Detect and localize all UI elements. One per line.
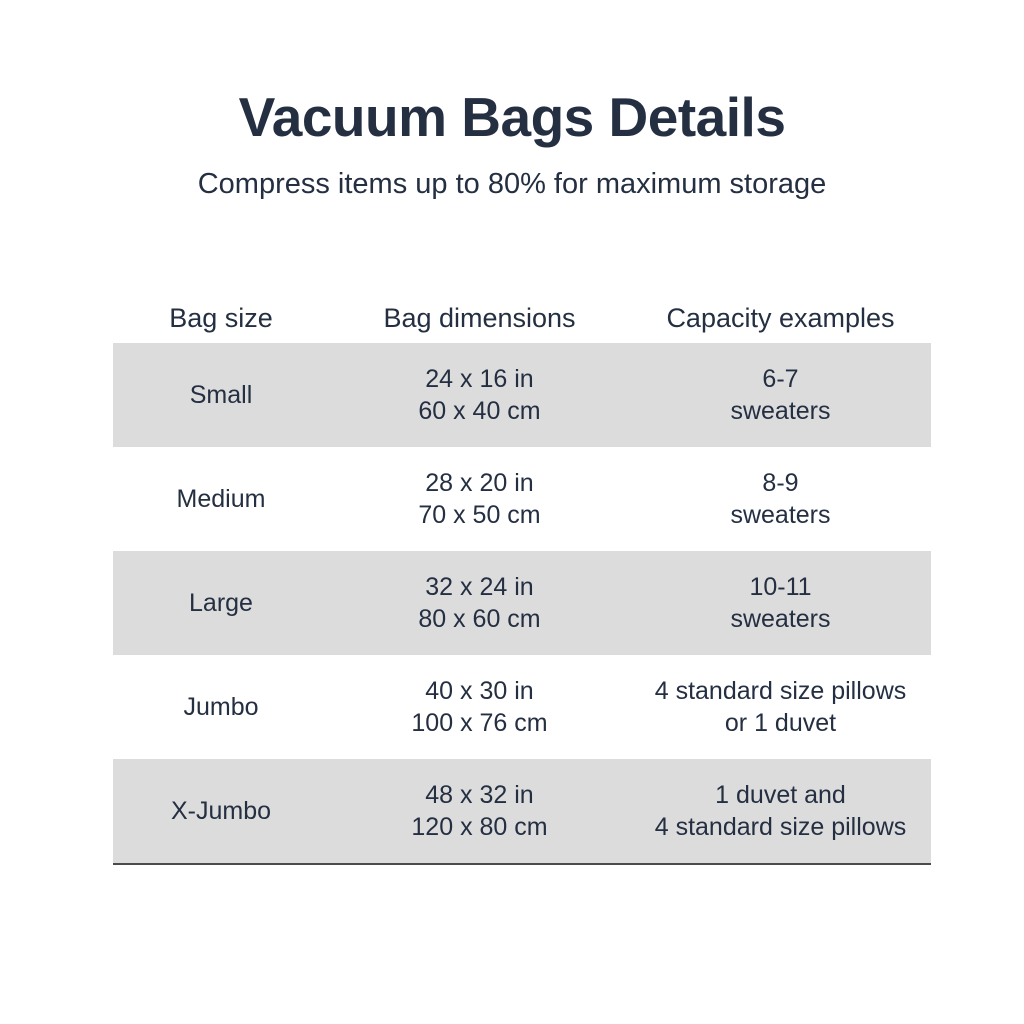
capacity-line-2: 4 standard size pillows (630, 811, 931, 843)
cell-bag-size: Large (113, 587, 329, 619)
page-title: Vacuum Bags Details (0, 86, 1024, 148)
bag-size-table: Bag size Bag dimensions Capacity example… (113, 292, 931, 865)
table-bottom-border (113, 863, 931, 865)
dimensions-centimeters: 120 x 80 cm (329, 811, 630, 843)
capacity-line-2: sweaters (630, 499, 931, 531)
dimensions-centimeters: 60 x 40 cm (329, 395, 630, 427)
capacity-line-1: 1 duvet and (630, 779, 931, 811)
dimensions-inches: 40 x 30 in (329, 675, 630, 707)
capacity-line-1: 8-9 (630, 467, 931, 499)
cell-bag-dimensions: 40 x 30 in 100 x 76 cm (329, 675, 630, 739)
dimensions-inches: 48 x 32 in (329, 779, 630, 811)
infographic-page: Vacuum Bags Details Compress items up to… (0, 0, 1024, 1024)
table-row: Large 32 x 24 in 80 x 60 cm 10-11 sweate… (113, 551, 931, 655)
page-subtitle: Compress items up to 80% for maximum sto… (0, 166, 1024, 202)
cell-bag-size: Small (113, 379, 329, 411)
column-header-capacity-examples: Capacity examples (630, 302, 931, 334)
cell-bag-size: Medium (113, 483, 329, 515)
table-row: Jumbo 40 x 30 in 100 x 76 cm 4 standard … (113, 655, 931, 759)
table-row: Small 24 x 16 in 60 x 40 cm 6-7 sweaters (113, 343, 931, 447)
table-row: X-Jumbo 48 x 32 in 120 x 80 cm 1 duvet a… (113, 759, 931, 863)
capacity-line-2: sweaters (630, 395, 931, 427)
cell-capacity-examples: 10-11 sweaters (630, 571, 931, 635)
capacity-line-1: 10-11 (630, 571, 931, 603)
cell-bag-dimensions: 28 x 20 in 70 x 50 cm (329, 467, 630, 531)
cell-bag-size: X-Jumbo (113, 795, 329, 827)
cell-bag-dimensions: 48 x 32 in 120 x 80 cm (329, 779, 630, 843)
cell-capacity-examples: 4 standard size pillows or 1 duvet (630, 675, 931, 739)
cell-capacity-examples: 6-7 sweaters (630, 363, 931, 427)
dimensions-inches: 24 x 16 in (329, 363, 630, 395)
dimensions-centimeters: 80 x 60 cm (329, 603, 630, 635)
dimensions-centimeters: 100 x 76 cm (329, 707, 630, 739)
dimensions-inches: 28 x 20 in (329, 467, 630, 499)
column-header-bag-size: Bag size (113, 302, 329, 334)
cell-bag-dimensions: 32 x 24 in 80 x 60 cm (329, 571, 630, 635)
column-header-bag-dimensions: Bag dimensions (329, 302, 630, 334)
cell-bag-size: Jumbo (113, 691, 329, 723)
page-header: Vacuum Bags Details Compress items up to… (0, 86, 1024, 202)
capacity-line-1: 6-7 (630, 363, 931, 395)
dimensions-inches: 32 x 24 in (329, 571, 630, 603)
capacity-line-1: 4 standard size pillows (630, 675, 931, 707)
table-row: Medium 28 x 20 in 70 x 50 cm 8-9 sweater… (113, 447, 931, 551)
dimensions-centimeters: 70 x 50 cm (329, 499, 630, 531)
capacity-line-2: or 1 duvet (630, 707, 931, 739)
cell-capacity-examples: 8-9 sweaters (630, 467, 931, 531)
capacity-line-2: sweaters (630, 603, 931, 635)
cell-capacity-examples: 1 duvet and 4 standard size pillows (630, 779, 931, 843)
table-header-row: Bag size Bag dimensions Capacity example… (113, 292, 931, 343)
cell-bag-dimensions: 24 x 16 in 60 x 40 cm (329, 363, 630, 427)
